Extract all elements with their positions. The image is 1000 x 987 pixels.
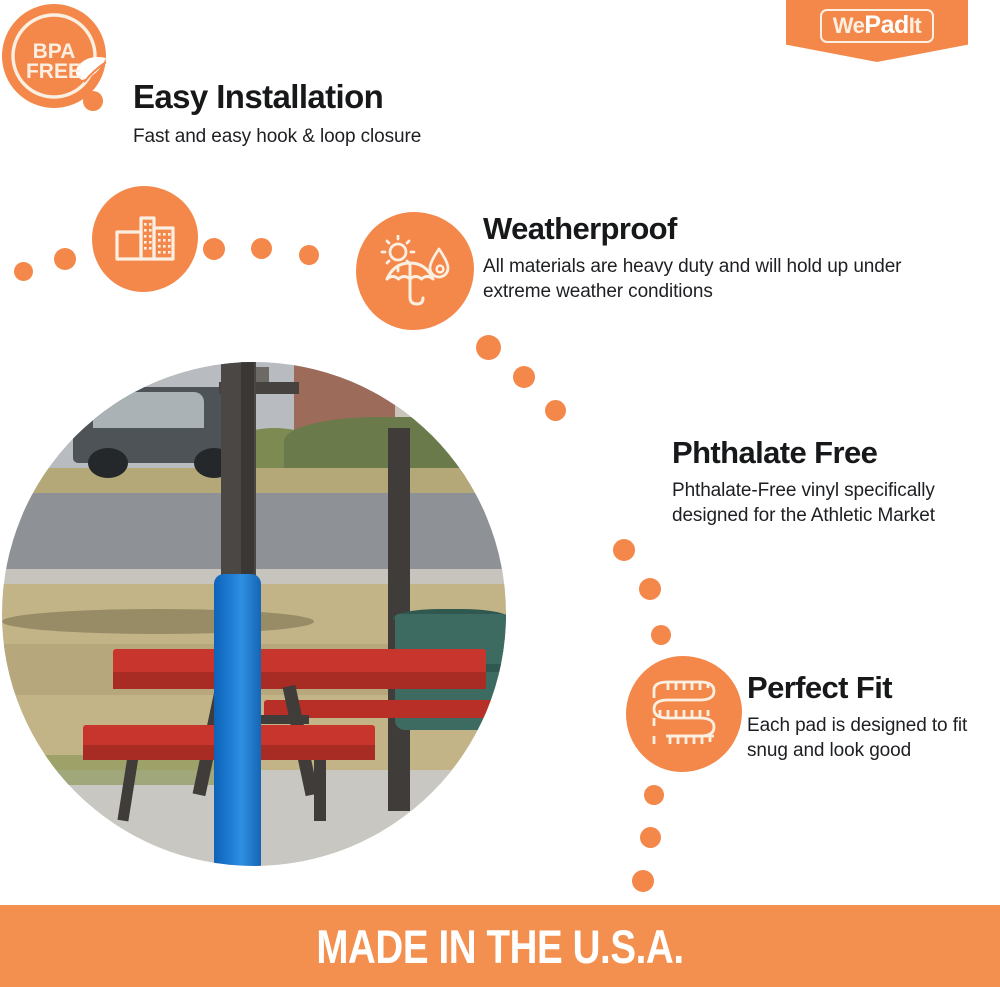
connector-dot [203, 238, 225, 260]
logo-text-pad: Pad [864, 13, 908, 38]
connector-dot [644, 785, 664, 805]
feature-title-phthalate-free: Phthalate Free [672, 437, 972, 470]
bpa-free-leaf-icon: BPA FREE [0, 0, 112, 112]
made-in-usa-banner: MADE IN THE U.S.A. [0, 905, 1000, 987]
connector-dot [14, 262, 33, 281]
feature-description-perfect-fit: Each pad is designed to fit snug and loo… [747, 713, 987, 764]
feature-block-weatherproof: Weatherproof All materials are heavy dut… [483, 213, 903, 304]
feature-block-perfect-fit: Perfect Fit Each pad is designed to fit … [747, 672, 987, 763]
connector-dot [54, 248, 76, 270]
installation-panels-icon [92, 186, 198, 292]
feature-title-weatherproof: Weatherproof [483, 213, 903, 246]
brand-logo[interactable]: We Pad It [786, 0, 968, 62]
connector-dot [651, 625, 671, 645]
feature-description-phthalate-free: Phthalate-Free vinyl specifically design… [672, 478, 972, 529]
feature-description-weatherproof: All materials are heavy duty and will ho… [483, 254, 903, 305]
connector-dot [476, 335, 501, 360]
connector-dot [613, 539, 635, 561]
feature-block-phthalate-free: Phthalate Free Phthalate-Free vinyl spec… [672, 437, 972, 528]
infographic-page: We Pad It Easy Installation Fast and eas… [0, 0, 1000, 987]
connector-dot [639, 578, 661, 600]
feature-description-easy-installation: Fast and easy hook & loop closure [133, 124, 421, 149]
logo-plate: We Pad It [820, 9, 934, 43]
connector-dot [513, 366, 535, 388]
made-in-usa-label: MADE IN THE U.S.A. [316, 919, 683, 974]
connector-dot [640, 827, 661, 848]
connector-dot [545, 400, 566, 421]
product-photo [2, 362, 506, 866]
feature-title-perfect-fit: Perfect Fit [747, 672, 987, 705]
sun-umbrella-rain-icon [356, 212, 474, 330]
logo-text-we: We [833, 15, 865, 37]
connector-dot [299, 245, 319, 265]
connector-dot [251, 238, 272, 259]
feature-title-easy-installation: Easy Installation [133, 80, 421, 115]
feature-block-easy-installation: Easy Installation Fast and easy hook & l… [133, 80, 421, 149]
connector-dot [632, 870, 654, 892]
logo-text-it: It [909, 15, 921, 37]
measuring-tape-icon [626, 656, 742, 772]
svg-text:FREE: FREE [26, 60, 82, 83]
